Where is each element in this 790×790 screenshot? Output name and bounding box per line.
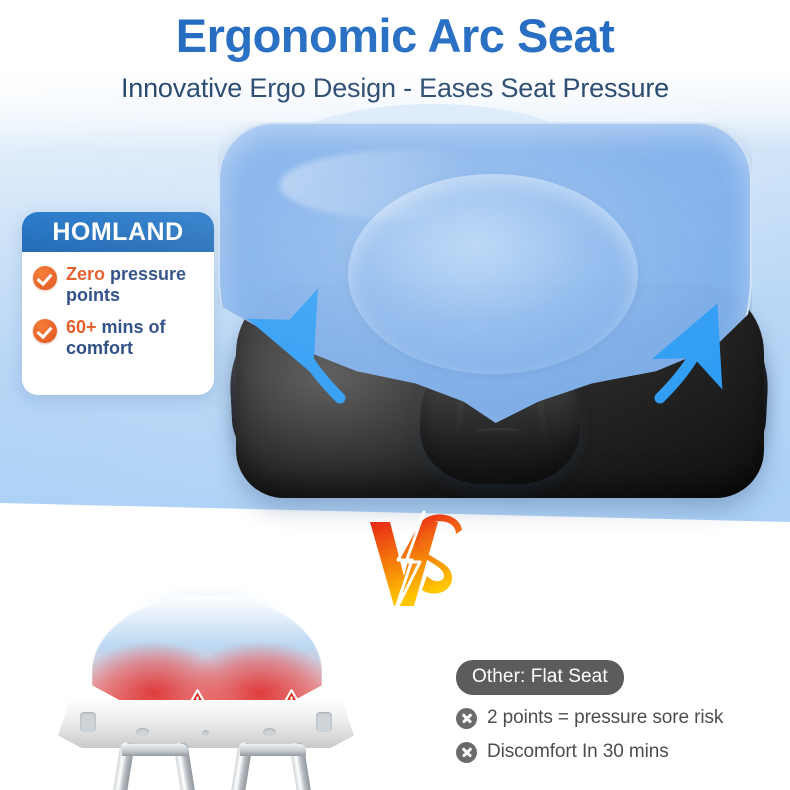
brand-benefits-card: HOMLAND Zero pressure points 60+ mins of… bbox=[22, 212, 214, 395]
flat-seat-surface bbox=[58, 700, 354, 748]
seat-slot bbox=[316, 712, 332, 732]
product-hero-image bbox=[208, 108, 790, 518]
benefit-highlight: Zero bbox=[66, 264, 105, 284]
product-marketing-image: Ergonomic Arc Seat Innovative Ergo Desig… bbox=[0, 0, 790, 790]
x-circle-icon bbox=[456, 742, 477, 763]
benefit-label: Zero pressure points bbox=[66, 264, 204, 306]
drawback-item: Discomfort In 30 mins bbox=[456, 741, 776, 763]
cushion-crease bbox=[476, 428, 520, 433]
page-title: Ergonomic Arc Seat bbox=[0, 8, 790, 63]
seat-slot bbox=[263, 728, 276, 736]
gel-highlight bbox=[280, 150, 530, 220]
seat-slot bbox=[202, 730, 209, 736]
benefit-label: 60+ mins of comfort bbox=[66, 317, 204, 359]
benefit-item: Zero pressure points bbox=[33, 264, 204, 306]
x-circle-icon bbox=[456, 708, 477, 729]
other-seat-badge: Other: Flat Seat bbox=[456, 660, 624, 695]
page-subtitle: Innovative Ergo Design - Eases Seat Pres… bbox=[0, 73, 790, 104]
benefit-item: 60+ mins of comfort bbox=[33, 317, 204, 359]
check-circle-icon bbox=[33, 319, 57, 343]
drawback-label: Discomfort In 30 mins bbox=[487, 741, 669, 763]
benefit-list: Zero pressure points 60+ mins of comfort bbox=[22, 252, 214, 378]
chair-cross-bar bbox=[240, 744, 306, 756]
brand-name-label: HOMLAND bbox=[22, 212, 214, 252]
versus-badge bbox=[362, 508, 474, 620]
drawback-item: 2 points = pressure sore risk bbox=[456, 707, 776, 729]
seat-slot bbox=[136, 728, 149, 736]
drawback-label: 2 points = pressure sore risk bbox=[487, 707, 723, 729]
chair-cross-bar bbox=[122, 744, 188, 756]
check-circle-icon bbox=[33, 266, 57, 290]
flat-seat-comparison-graphic bbox=[36, 596, 376, 790]
other-seat-comparison: Other: Flat Seat 2 points = pressure sor… bbox=[456, 660, 776, 763]
benefit-highlight: 60+ bbox=[66, 317, 97, 337]
seat-slot bbox=[80, 712, 96, 732]
